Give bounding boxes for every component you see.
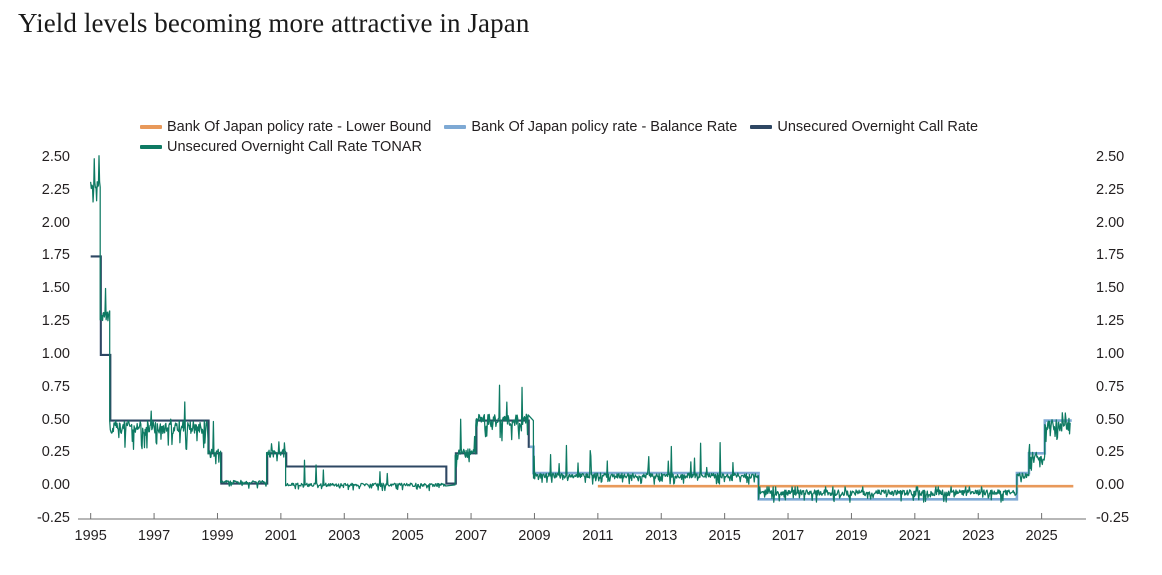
- y-tick-right-1_50: 1.50: [1096, 280, 1148, 296]
- x-tick-2019: 2019: [829, 528, 873, 544]
- x-tick-2007: 2007: [449, 528, 493, 544]
- y-tick-right-2_25: 2.25: [1096, 182, 1148, 198]
- y-tick-left-1_00: 1.00: [18, 346, 70, 362]
- x-tick-1997: 1997: [132, 528, 176, 544]
- x-tick-2005: 2005: [386, 528, 430, 544]
- y-tick-right-1_00: 1.00: [1096, 346, 1148, 362]
- x-tick-2015: 2015: [703, 528, 747, 544]
- y-tick-left-0_25: 0.25: [18, 444, 70, 460]
- y-tick-left-0_00: 0.00: [18, 477, 70, 493]
- x-tick-2023: 2023: [956, 528, 1000, 544]
- x-tick-2025: 2025: [1020, 528, 1064, 544]
- x-tick-2017: 2017: [766, 528, 810, 544]
- y-tick-right-2_50: 2.50: [1096, 149, 1148, 165]
- y-tick-right-1_75: 1.75: [1096, 247, 1148, 263]
- x-tick-2013: 2013: [639, 528, 683, 544]
- y-tick-right-0_00: 0.00: [1096, 477, 1148, 493]
- y-tick-left-1_75: 1.75: [18, 247, 70, 263]
- y-tick-left-0_50: 0.50: [18, 412, 70, 428]
- y-tick-left--0_25: -0.25: [18, 510, 70, 526]
- y-tick-right-2_00: 2.00: [1096, 215, 1148, 231]
- y-tick-right-0_50: 0.50: [1096, 412, 1148, 428]
- y-tick-right--0_25: -0.25: [1096, 510, 1148, 526]
- y-tick-right-1_25: 1.25: [1096, 313, 1148, 329]
- series-tonar: [91, 156, 1070, 503]
- y-tick-left-2_25: 2.25: [18, 182, 70, 198]
- x-tick-2009: 2009: [512, 528, 556, 544]
- y-tick-left-0_75: 0.75: [18, 379, 70, 395]
- y-tick-left-2_00: 2.00: [18, 215, 70, 231]
- x-tick-2021: 2021: [893, 528, 937, 544]
- chart-container: Yield levels becoming more attractive in…: [0, 0, 1162, 575]
- x-tick-2011: 2011: [576, 528, 620, 544]
- x-tick-2003: 2003: [322, 528, 366, 544]
- y-tick-left-1_25: 1.25: [18, 313, 70, 329]
- y-tick-right-0_75: 0.75: [1096, 379, 1148, 395]
- y-tick-left-2_50: 2.50: [18, 149, 70, 165]
- x-tick-2001: 2001: [259, 528, 303, 544]
- y-tick-left-1_50: 1.50: [18, 280, 70, 296]
- x-tick-1995: 1995: [69, 528, 113, 544]
- series-boj-balance-rate: [530, 421, 1072, 500]
- x-tick-1999: 1999: [195, 528, 239, 544]
- plot-area: [0, 0, 1162, 575]
- y-tick-right-0_25: 0.25: [1096, 444, 1148, 460]
